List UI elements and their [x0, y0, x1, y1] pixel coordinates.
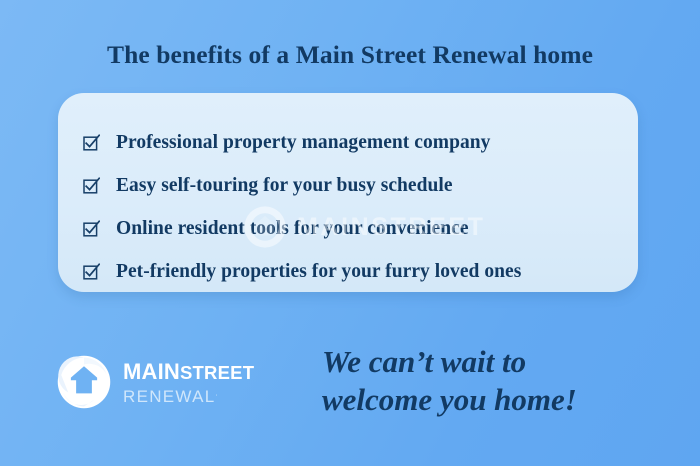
logo-registered-mark: . [216, 388, 220, 397]
logo-renewal-line: RENEWAL. [123, 388, 254, 405]
checkbox-checked-icon [83, 134, 100, 151]
brand-logo: MAINSTREET RENEWAL. [56, 354, 254, 410]
list-item-label: Online resident tools for your convenien… [116, 218, 469, 240]
mainstreet-aperture-logo-icon [56, 354, 112, 410]
logo-word-renewal: RENEWAL [123, 387, 216, 406]
logo-word-main: MAIN [123, 359, 180, 384]
checkbox-checked-icon [83, 177, 100, 194]
list-item: Online resident tools for your convenien… [58, 207, 638, 250]
logo-word-street: STREET [180, 362, 254, 383]
tagline-line-2: welcome you home! [322, 381, 577, 419]
tagline: We can’t wait to welcome you home! [322, 343, 577, 419]
benefits-card: Professional property management company… [58, 93, 638, 292]
list-item-label: Pet-friendly properties for your furry l… [116, 261, 521, 283]
tagline-line-1: We can’t wait to [322, 343, 577, 381]
promo-poster: The benefits of a Main Street Renewal ho… [0, 0, 700, 466]
list-item: Pet-friendly properties for your furry l… [58, 250, 638, 293]
list-item-label: Professional property management company [116, 132, 490, 154]
list-item-label: Easy self-touring for your busy schedule [116, 175, 453, 197]
checkbox-checked-icon [83, 220, 100, 237]
list-item: Easy self-touring for your busy schedule [58, 164, 638, 207]
logo-mainstreet-line: MAINSTREET [123, 361, 254, 383]
brand-logo-wordmark: MAINSTREET RENEWAL. [123, 359, 254, 405]
list-item: Professional property management company [58, 121, 638, 164]
benefits-list: Professional property management company… [58, 93, 638, 320]
checkbox-checked-icon [83, 263, 100, 280]
page-title: The benefits of a Main Street Renewal ho… [0, 40, 700, 70]
